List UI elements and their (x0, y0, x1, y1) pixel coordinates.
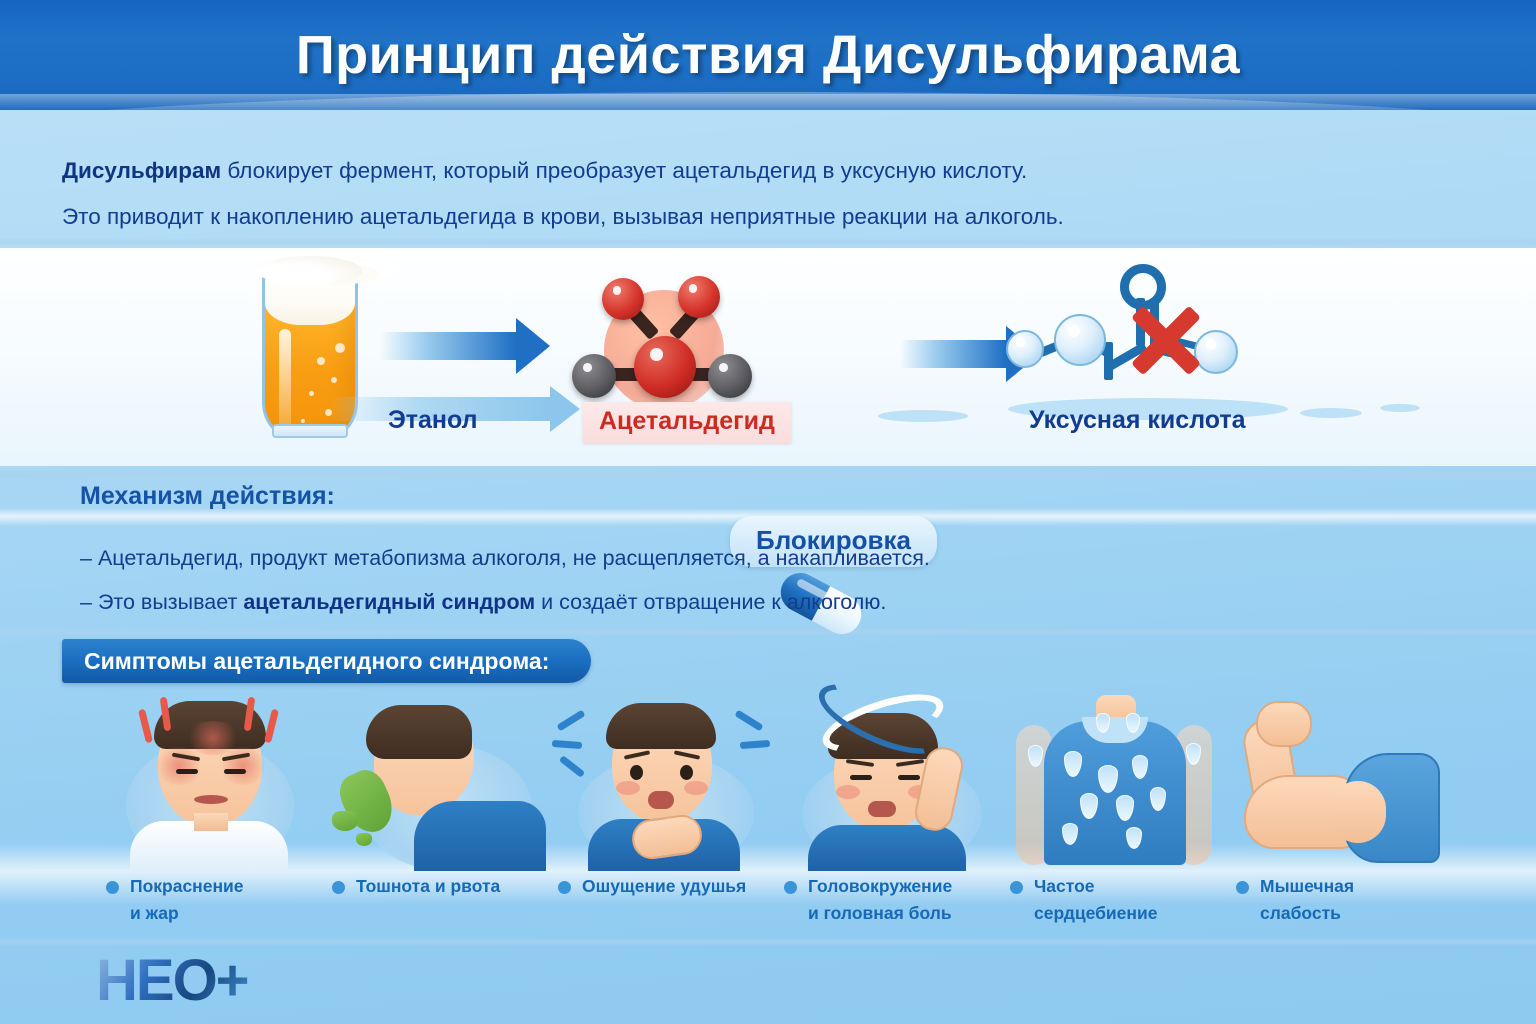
symptom-label: Головокружение и головная боль (784, 873, 1000, 927)
symptom-card-redness[interactable]: Покраснение и жар (96, 695, 322, 945)
page-title: Принцип действия Дисульфирама (0, 0, 1536, 110)
divider-band-symptoms (0, 628, 1536, 636)
symptoms-banner: Симптомы ацетальдегидного синдрома: (62, 639, 591, 683)
puddle-decoration-3 (1380, 404, 1420, 412)
flexed-arm-icon (1226, 695, 1452, 865)
mechanism-title: Механизм действия: (80, 482, 335, 511)
symptom-card-nausea[interactable]: Тошнота и рвота (322, 695, 548, 945)
mechanism-highlight: ацетальдегидный синдром (243, 590, 535, 614)
symptom-card-palpitations[interactable]: Частое сердцебиение (1000, 695, 1226, 945)
vomiting-icon (322, 695, 548, 865)
puddle-decoration-4 (878, 410, 968, 422)
label-acetaldehyde: Ацетальдегид (583, 402, 791, 443)
mechanism-list: – Ацетальдегид, продукт метабопизма алко… (80, 536, 1460, 624)
intro-line-1-rest: блокирует фермент, который преобразует а… (221, 158, 1027, 183)
symptoms-row: Покраснение и жар Тошнота и рвота (0, 695, 1536, 945)
symptom-label: Частое сердцебиение (1010, 873, 1226, 927)
symptom-label: Покраснение и жар (106, 873, 322, 927)
infographic-poster: Принцип действия Дисульфирама Дисульфира… (0, 0, 1536, 1024)
symptom-label: Тошнота и рвота (332, 873, 548, 900)
mechanism-item: – Ацетальдегид, продукт метабопизма алко… (80, 536, 1460, 580)
arrow-ethanol-to-acetaldehyde (380, 318, 550, 374)
intro-line-2: Это приводит к накоплению ацетальдегида … (62, 194, 1462, 240)
puddle-decoration-2 (1300, 408, 1362, 418)
symptom-card-weakness[interactable]: Мышечная слабость (1226, 695, 1452, 945)
label-acetic-acid: Уксусная кислота (1029, 406, 1246, 435)
choking-icon (548, 695, 774, 865)
divider-band-mechanism (0, 470, 1536, 480)
intro-line-1: Дисульфирам блокирует фермент, который п… (62, 148, 1462, 194)
symptom-card-choking[interactable]: Ошущение удушья (548, 695, 774, 945)
dizziness-icon (774, 695, 1000, 865)
symptom-label: Мышечная слабость (1236, 873, 1452, 927)
symptom-card-dizziness[interactable]: Головокружение и головная боль (774, 695, 1000, 945)
sweating-torso-icon (1000, 695, 1226, 865)
reaction-pathway-section: Блокировка (0, 248, 1536, 466)
poster-header: Принцип действия Дисульфирама (0, 0, 1536, 110)
flushed-face-icon (96, 695, 322, 865)
mechanism-item: – Это вызывает ацетальдегидный синдром и… (80, 580, 1460, 624)
brand-logo: НЕО+ (96, 952, 248, 1010)
symptom-label: Ошущение удушья (558, 873, 774, 900)
intro-text: Дисульфирам блокирует фермент, который п… (62, 148, 1462, 240)
label-ethanol: Этанол (388, 406, 478, 435)
intro-drug-name: Дисульфирам (62, 158, 221, 183)
red-x-blocked-icon (1128, 302, 1204, 378)
